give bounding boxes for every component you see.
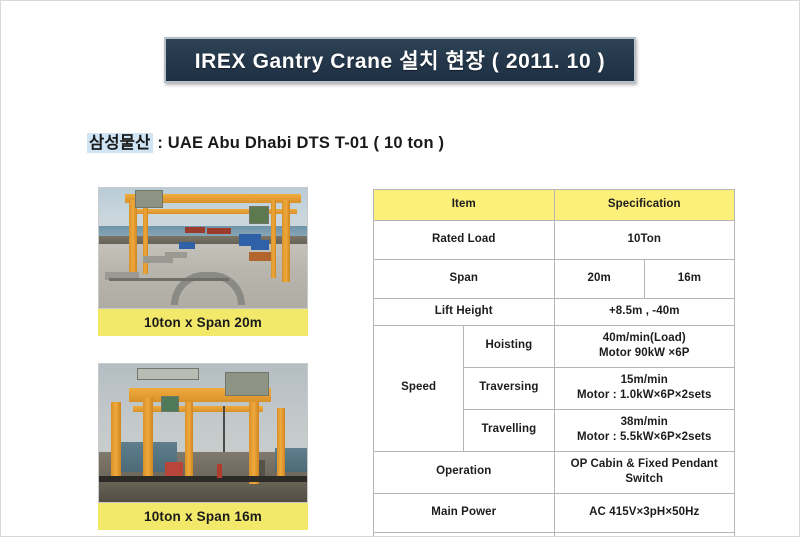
travelling-speed: 38m/min — [621, 416, 668, 428]
cell-value-traversing: 15m/min Motor : 1.0kW×6P×2sets — [554, 367, 735, 409]
hoisting-speed: 40m/min(Load) — [603, 332, 686, 344]
cell-value-hoisting: 40m/min(Load) Motor 90kW ×6P — [554, 325, 735, 367]
photo2-safety-barrier — [165, 462, 183, 476]
hoisting-motor: Motor 90kW ×6P — [599, 347, 690, 359]
table-header-item: Item — [374, 190, 555, 221]
cell-value-control-power: AC 110V×1pH×50Hz — [554, 532, 735, 537]
cell-value-travelling: 38m/min Motor : 5.5kW×6P×2sets — [554, 409, 735, 451]
photo-crane-leg-left — [129, 200, 137, 278]
photo2-worker-2 — [259, 460, 265, 476]
photo-gantry-crane-closeup — [98, 363, 308, 503]
photo2-walkway-platform — [137, 368, 199, 380]
cell-item-control-power: Control Power — [374, 532, 555, 537]
table-row-speed-hoisting: Speed Hoisting 40m/min(Load) Motor 90kW … — [374, 325, 735, 367]
photo-red-stack-2 — [207, 228, 231, 234]
cell-value-rated-load: 10Ton — [554, 221, 735, 260]
photo-machine-house-2 — [249, 206, 269, 224]
photo-red-stack-1 — [185, 227, 205, 233]
page-title: IREX Gantry Crane 설치 현장 ( 2011. 10 ) — [195, 45, 606, 75]
photo-caption-1: 10ton x Span 20m — [98, 309, 308, 336]
table-row-main-power: Main Power AC 415V×3pH×50Hz — [374, 493, 735, 532]
table-row-operation: Operation OP Cabin & Fixed Pendant Switc… — [374, 451, 735, 493]
specification-table: Item Specification Rated Load 10Ton Span… — [373, 189, 735, 537]
table-header-row: Item Specification — [374, 190, 735, 221]
photo-gantry-crane-yard — [98, 187, 308, 309]
photo2-operator-cabin — [161, 396, 179, 412]
cell-value-span-20m: 20m — [554, 260, 644, 299]
cell-item-lift-height: Lift Height — [374, 299, 555, 326]
photo-crane-leg-right — [282, 200, 290, 282]
slide-title-banner: IREX Gantry Crane 설치 현장 ( 2011. 10 ) — [164, 37, 636, 83]
cell-value-span-16m: 16m — [644, 260, 734, 299]
traversing-motor: Motor : 1.0kW×6P×2sets — [577, 389, 712, 401]
travelling-motor: Motor : 5.5kW×6P×2sets — [577, 431, 712, 443]
photo2-leg-right-outer — [277, 408, 285, 482]
traversing-speed: 15m/min — [621, 374, 668, 386]
table-row-control-power: Control Power AC 110V×1pH×50Hz — [374, 532, 735, 537]
cell-item-hoisting: Hoisting — [464, 325, 554, 367]
photo-block-span-20m: 10ton x Span 20m — [98, 187, 308, 336]
cell-item-main-power: Main Power — [374, 493, 555, 532]
photo-rail-line — [109, 278, 229, 281]
photo2-leg-left-inner — [143, 398, 153, 482]
photo2-leg-left-outer — [111, 402, 121, 482]
photo-blue-equipment-3 — [179, 242, 195, 249]
photo2-leg-mid — [185, 402, 193, 482]
cell-item-operation: Operation — [374, 451, 555, 493]
table-header-specification: Specification — [554, 190, 735, 221]
photo-blue-equipment-2 — [251, 240, 269, 250]
cell-item-travelling: Travelling — [464, 409, 554, 451]
cell-item-speed: Speed — [374, 325, 464, 451]
subtitle: 삼성물산 : UAE Abu Dhabi DTS T-01 ( 10 ton ) — [87, 129, 444, 153]
photo2-machine-house — [225, 372, 269, 396]
table-row-span: Span 20m 16m — [374, 260, 735, 299]
cell-item-rated-load: Rated Load — [374, 221, 555, 260]
photo2-hoist-rope — [223, 406, 225, 452]
photo-concrete-slab-3 — [165, 252, 187, 258]
photo2-worker-1 — [217, 464, 222, 478]
subtitle-company: 삼성물산 — [87, 133, 153, 153]
photo-block-span-16m: 10ton x Span 16m — [98, 363, 308, 530]
photo-machine-house — [135, 190, 163, 208]
cell-item-traversing: Traversing — [464, 367, 554, 409]
photo2-leg-right-inner — [249, 402, 259, 484]
subtitle-detail: : UAE Abu Dhabi DTS T-01 ( 10 ton ) — [153, 134, 445, 152]
table-row-lift-height: Lift Height +8.5m , -40m — [374, 299, 735, 326]
cell-item-span: Span — [374, 260, 555, 299]
cell-value-lift-height: +8.5m , -40m — [554, 299, 735, 326]
cell-value-operation: OP Cabin & Fixed Pendant Switch — [554, 451, 735, 493]
photo-caption-2: 10ton x Span 16m — [98, 503, 308, 530]
photo-crane-leg-right-inner — [271, 200, 276, 278]
photo2-beam-on-ground — [99, 476, 308, 482]
slide-canvas: IREX Gantry Crane 설치 현장 ( 2011. 10 ) 삼성물… — [0, 0, 800, 537]
table-row-rated-load: Rated Load 10Ton — [374, 221, 735, 260]
photo-red-stack-3 — [249, 252, 271, 261]
cell-value-main-power: AC 415V×3pH×50Hz — [554, 493, 735, 532]
